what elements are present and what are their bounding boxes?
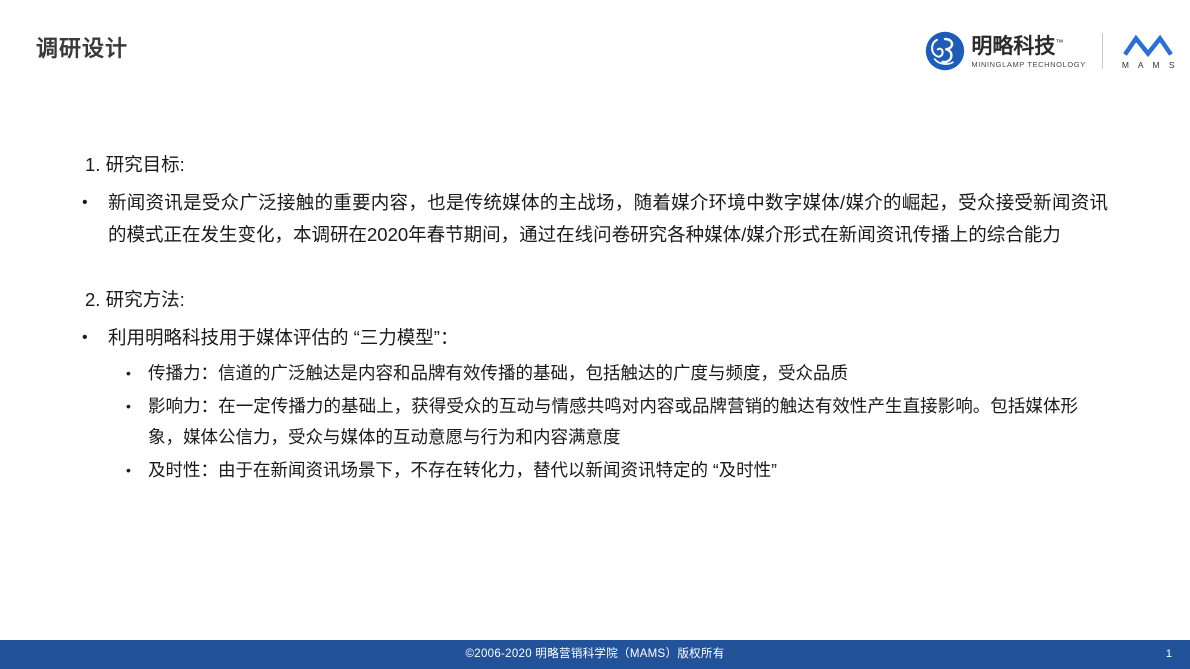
sub-bullet-timeliness-text: 及时性：由于在新闻资讯场景下，不存在转化力，替代以新闻资讯特定的 “及时性” <box>148 455 777 486</box>
footer-copyright: ©2006-2020 明略营销科学院（MAMS）版权所有 <box>465 640 724 669</box>
logo-block: 明略科技™ MININGLAMP TECHNOLOGY M A M S <box>925 28 1178 74</box>
sub-bullet-influence-power: • 影响力：在一定传播力的基础上，获得受众的互动与情感共鸣对内容或品牌营销的触达… <box>126 391 1150 453</box>
three-force-model-list: • 传播力：信道的广泛触达是内容和品牌有效传播的基础，包括触达的广度与频度，受众… <box>80 358 1150 486</box>
mininglamp-logo: 明略科技™ MININGLAMP TECHNOLOGY <box>925 29 1085 73</box>
section-1-bullet: • 新闻资讯是受众广泛接触的重要内容，也是传统媒体的主战场，随着媒介环境中数字媒… <box>80 187 1150 251</box>
page-title: 调研设计 <box>36 38 128 60</box>
brand-name-cn-text: 明略科技 <box>971 35 1055 58</box>
section-1-heading: 1. 研究目标: <box>80 150 1150 180</box>
section-2-bullet-text: 利用明略科技用于媒体评估的 “三力模型”： <box>108 322 458 354</box>
mininglamp-wordmark: 明略科技™ MININGLAMP TECHNOLOGY <box>971 31 1085 71</box>
brand-name-en: MININGLAMP TECHNOLOGY <box>971 59 1085 70</box>
sub-bullet-dot-icon: • <box>126 391 148 422</box>
sub-bullet-communication-power: • 传播力：信道的广泛触达是内容和品牌有效传播的基础，包括触达的广度与频度，受众… <box>126 358 1150 389</box>
bullet-dot-icon: • <box>80 322 108 354</box>
slide-footer: ©2006-2020 明略营销科学院（MAMS）版权所有 1 <box>0 640 1190 669</box>
sub-bullet-dot-icon: • <box>126 358 148 389</box>
section-2-heading: 2. 研究方法: <box>80 285 1150 315</box>
logo-divider <box>1102 33 1103 69</box>
section-research-goal: 1. 研究目标: • 新闻资讯是受众广泛接触的重要内容，也是传统媒体的主战场，随… <box>80 150 1150 251</box>
bullet-dot-icon: • <box>80 187 108 219</box>
sub-bullet-communication-power-text: 传播力：信道的广泛触达是内容和品牌有效传播的基础，包括触达的广度与频度，受众品质 <box>148 358 848 389</box>
section-research-method: 2. 研究方法: • 利用明略科技用于媒体评估的 “三力模型”： • 传播力：信… <box>80 285 1150 486</box>
section-2-bullet: • 利用明略科技用于媒体评估的 “三力模型”： <box>80 322 1150 354</box>
sub-bullet-influence-power-text: 影响力：在一定传播力的基础上，获得受众的互动与情感共鸣对内容或品牌营销的触达有效… <box>148 391 1078 453</box>
sub-bullet-timeliness: • 及时性：由于在新闻资讯场景下，不存在转化力，替代以新闻资讯特定的 “及时性” <box>126 455 1150 486</box>
footer-page-number: 1 <box>1166 640 1172 669</box>
mams-logo: M A M S <box>1119 29 1178 73</box>
brand-name-cn: 明略科技™ <box>971 32 1085 58</box>
slide-header: 调研设计 明略科技™ MININGLAMP TECHNOLOGY <box>0 0 1190 95</box>
trademark-symbol: ™ <box>1055 38 1063 47</box>
slide-content: 1. 研究目标: • 新闻资讯是受众广泛接触的重要内容，也是传统媒体的主战场，随… <box>0 100 1190 486</box>
mams-wordmark: M A M S <box>1122 60 1178 70</box>
slide-root: 调研设计 明略科技™ MININGLAMP TECHNOLOGY <box>0 0 1190 669</box>
mininglamp-circle-icon <box>925 31 965 71</box>
section-1-bullet-text: 新闻资讯是受众广泛接触的重要内容，也是传统媒体的主战场，随着媒介环境中数字媒体/… <box>108 187 1108 251</box>
sub-bullet-dot-icon: • <box>126 455 148 486</box>
mams-chevron-icon <box>1123 33 1173 57</box>
